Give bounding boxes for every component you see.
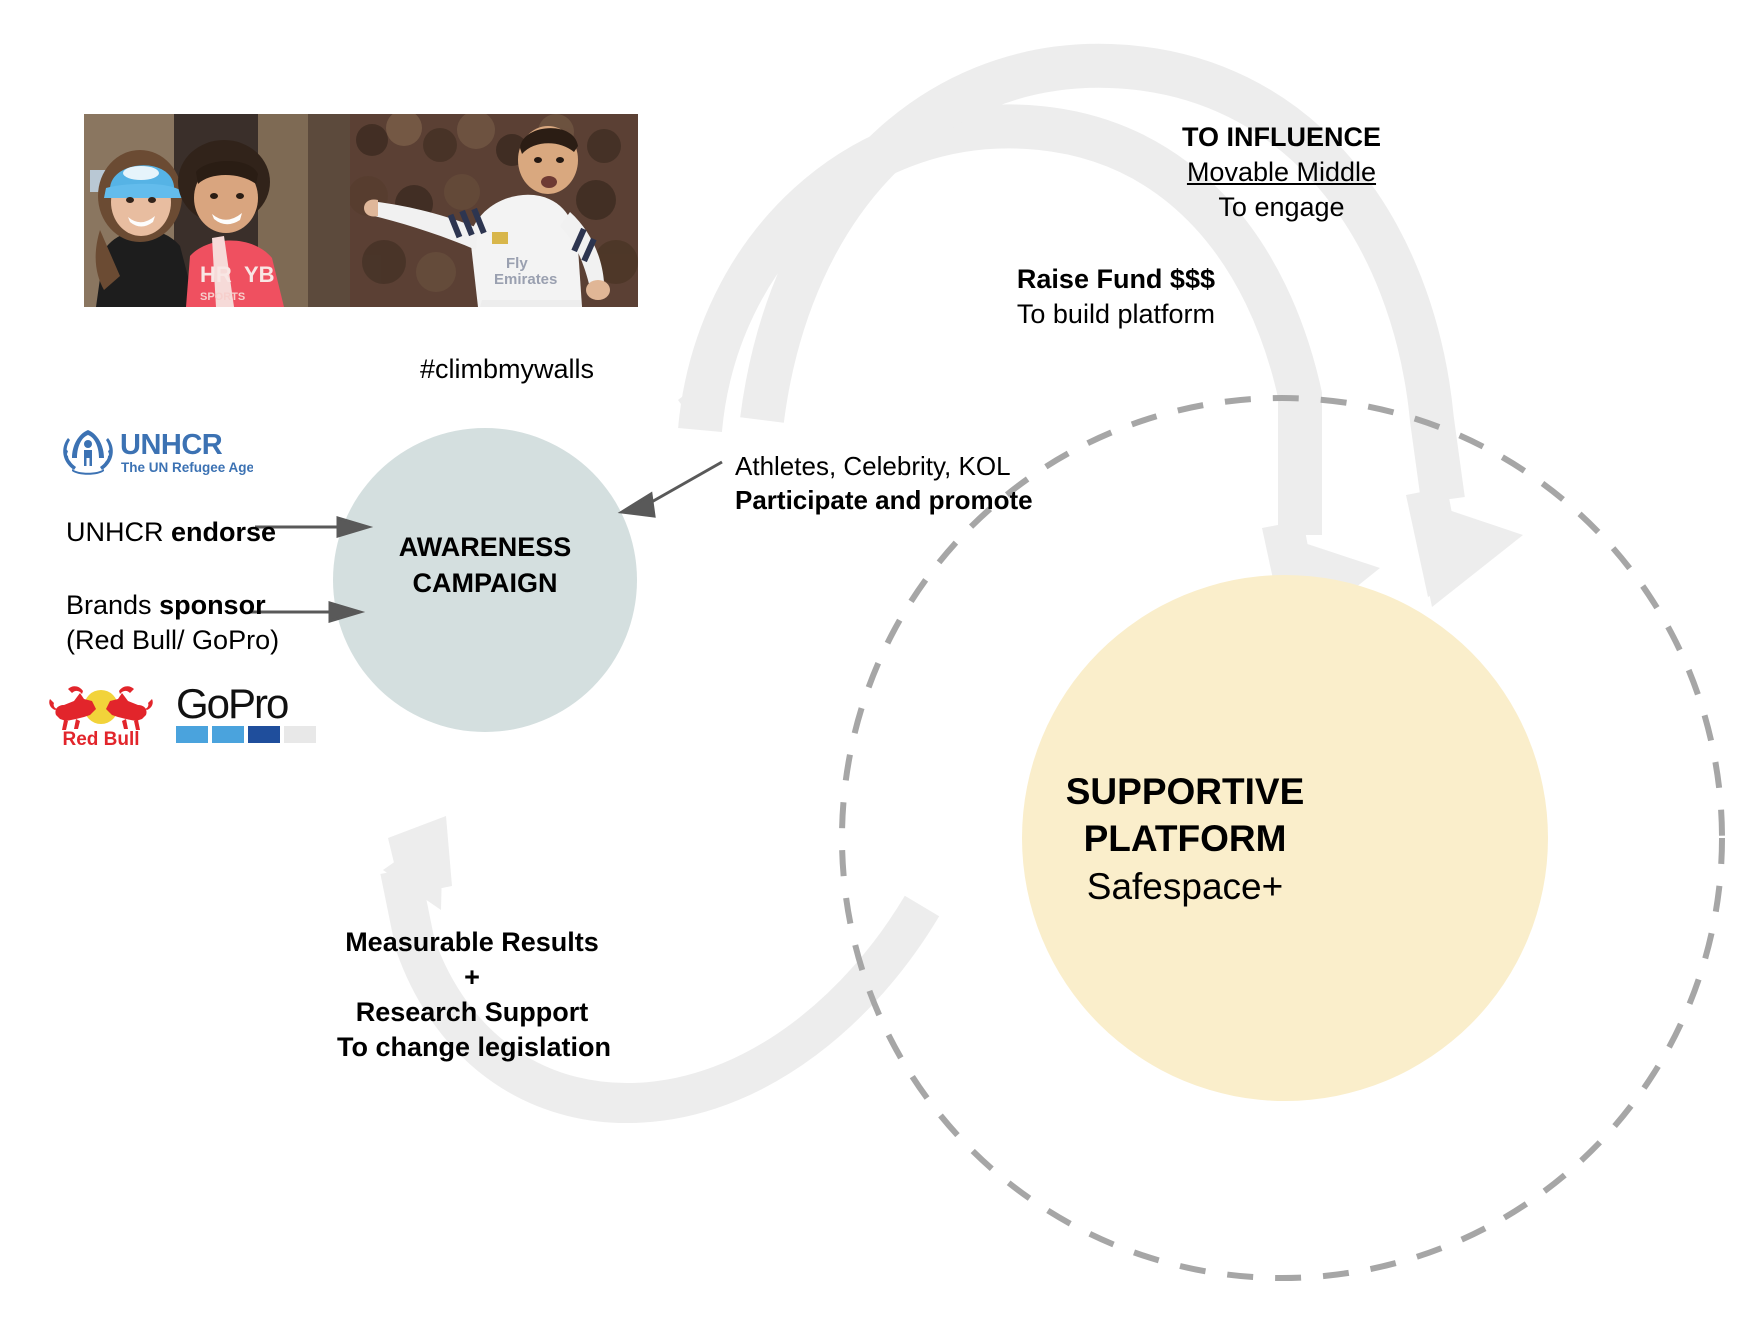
- svg-text:HR: HR: [200, 262, 232, 287]
- hashtag-label: #climbmywalls: [420, 352, 594, 387]
- svg-text:YB: YB: [244, 262, 275, 287]
- measurable-line1: Measurable Results: [337, 925, 607, 960]
- unhcr-endorse-bold: endorse: [171, 517, 276, 547]
- svg-text:Emirates: Emirates: [494, 271, 557, 288]
- athletes-line2: Participate and promote: [735, 484, 1033, 518]
- svg-text:Fly: Fly: [506, 255, 528, 272]
- svg-text:SPORTS: SPORTS: [200, 291, 245, 303]
- athletes-label: Athletes, Celebrity, KOL Participate and…: [735, 450, 1033, 518]
- influence-line2: Movable Middle: [1182, 155, 1381, 190]
- redbull-wordmark: Red Bull: [62, 729, 139, 749]
- gopro-logo: GoPro: [174, 682, 322, 744]
- redbull-logo: Red Bull: [46, 679, 156, 749]
- diagram-canvas: HR YB SPORTS: [0, 0, 1764, 1322]
- measurable-line2: +: [337, 960, 607, 995]
- gopro-wordmark: GoPro: [176, 682, 288, 727]
- influence-label: TO INFLUENCE Movable Middle To engage: [1182, 120, 1381, 225]
- brands-sponsor-bold: sponsor: [159, 590, 266, 620]
- awareness-campaign-label: AWARENESS CAMPAIGN: [300, 530, 670, 601]
- athletes-line1: Athletes, Celebrity, KOL: [735, 450, 1033, 484]
- unhcr-endorse-label: UNHCR endorse: [66, 515, 276, 550]
- unhcr-wordmark: UNHCR: [120, 429, 223, 461]
- photo-unhcr-ambassador: HR YB SPORTS: [84, 114, 350, 307]
- unhcr-tagline: The UN Refugee Agency: [121, 460, 253, 475]
- photo-footballer: Fly Emirates: [348, 110, 638, 307]
- diagram-graphics-layer: HR YB SPORTS: [0, 0, 1764, 1322]
- gopro-color-squares-icon: [176, 726, 316, 743]
- influence-line3: To engage: [1182, 190, 1381, 225]
- unhcr-endorse-normal: UNHCR: [66, 517, 171, 547]
- measurable-results-label: Measurable Results + Research Support To…: [337, 925, 607, 1065]
- platform-line3: Safespace+: [945, 863, 1425, 910]
- brands-sponsor-normal: Brands: [66, 590, 159, 620]
- brands-sponsor-sub: (Red Bull/ GoPro): [66, 623, 279, 658]
- measurable-line3: Research Support: [337, 995, 607, 1030]
- platform-line2: PLATFORM: [945, 815, 1425, 862]
- brands-sponsor-label: Brands sponsor (Red Bull/ GoPro): [66, 588, 279, 658]
- awareness-line1: AWARENESS: [300, 530, 670, 566]
- raise-fund-line1: Raise Fund $$$: [1017, 262, 1215, 297]
- awareness-line2: CAMPAIGN: [300, 566, 670, 602]
- unhcr-emblem-icon: [63, 430, 113, 475]
- supportive-platform-label: SUPPORTIVE PLATFORM Safespace+: [945, 768, 1425, 910]
- raise-fund-line2: To build platform: [1017, 297, 1215, 332]
- unhcr-logo: UNHCR The UN Refugee Agency: [58, 424, 253, 479]
- measurable-line4: To change legislation: [337, 1030, 607, 1065]
- platform-line1: SUPPORTIVE: [945, 768, 1425, 815]
- influence-line1: TO INFLUENCE: [1182, 120, 1381, 155]
- raise-fund-label: Raise Fund $$$ To build platform: [1017, 262, 1215, 332]
